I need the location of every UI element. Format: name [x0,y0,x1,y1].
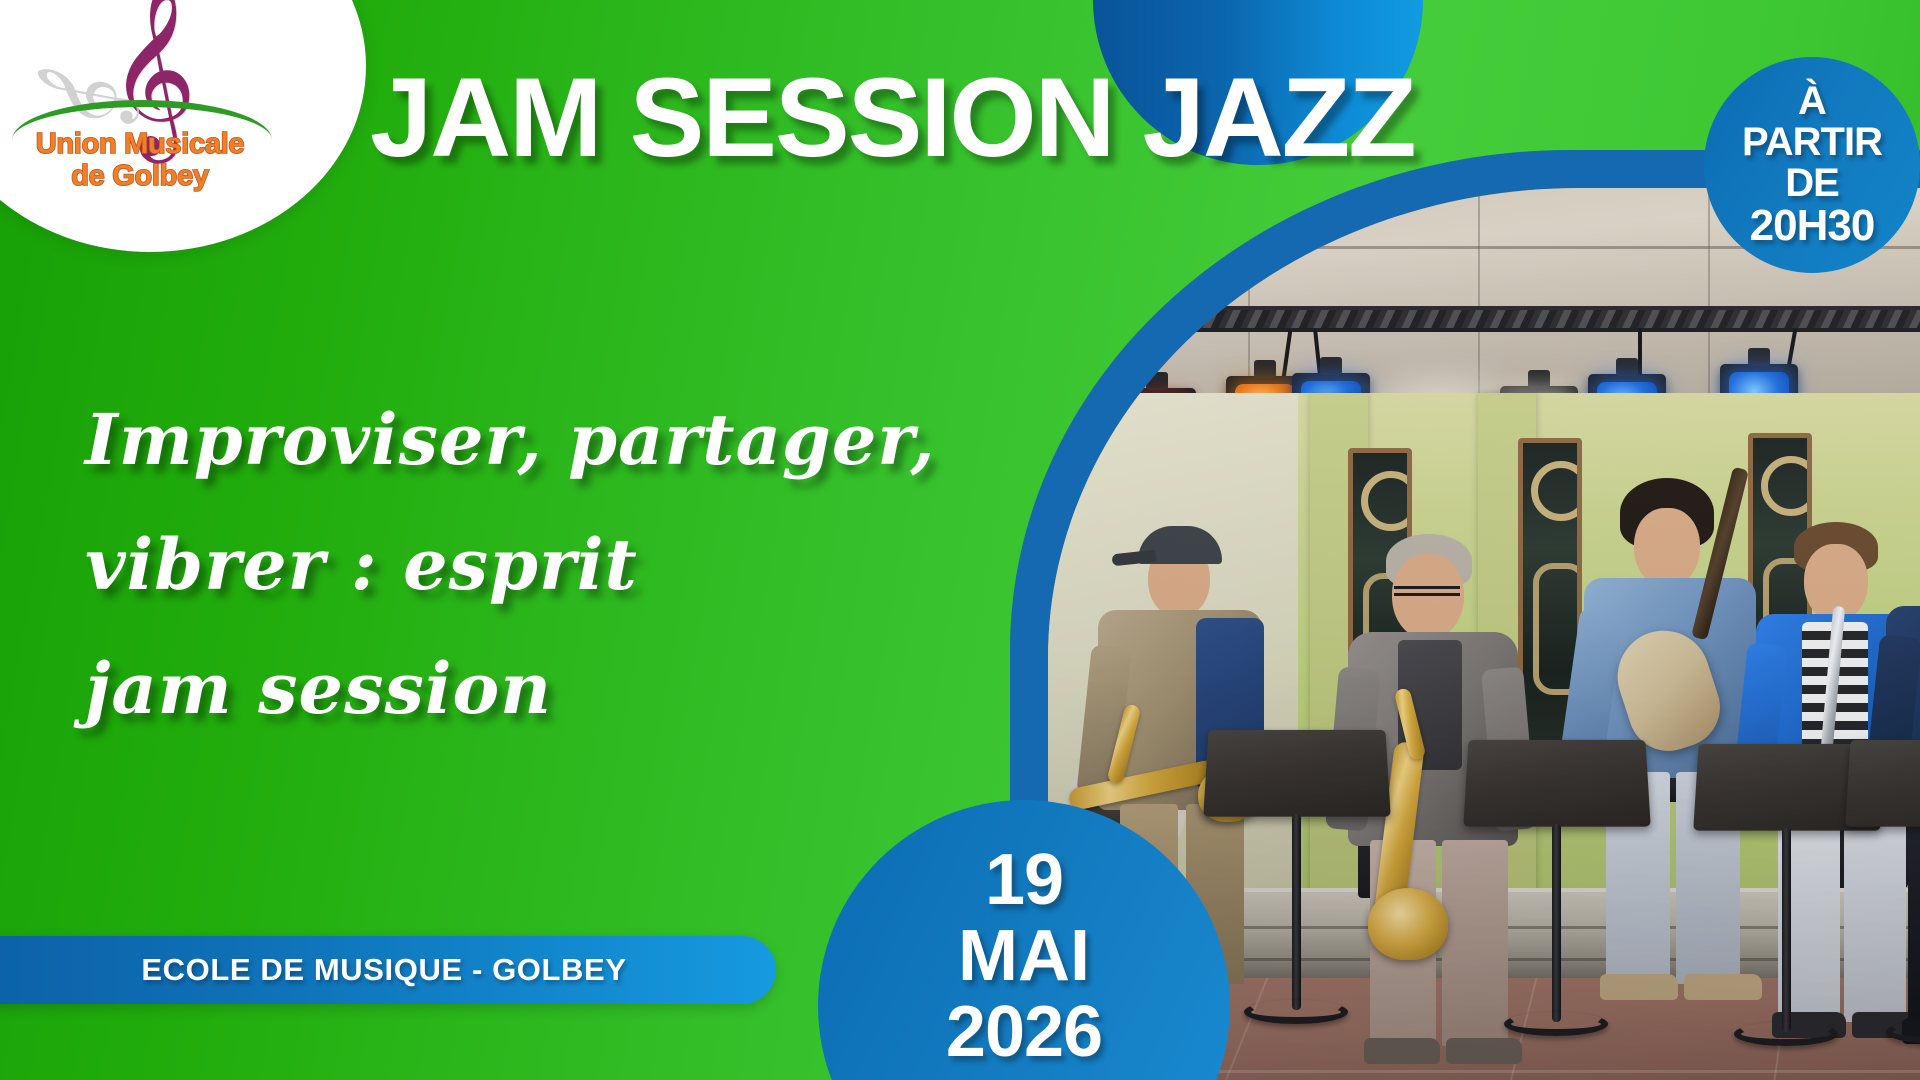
logo-text-line-2: de Golbey [0,160,280,192]
event-poster: 𝄞 𝄞 Union Musicale de Golbey JAM SESSION… [0,0,1920,1080]
lighting-truss [1048,306,1920,332]
poster-tagline: Improviser, partager, vibrer : esprit ja… [85,378,905,752]
time-badge-line-1: À [1798,81,1826,122]
date-day: 19 [985,844,1063,916]
tagline-line-1: Improviser, partager, [85,378,905,503]
tagline-line-3: jam session [85,627,905,752]
tagline-line-2: vibrer : esprit [85,503,905,628]
logo-text: Union Musicale de Golbey [0,128,280,193]
venue-ribbon: ECOLE DE MUSIQUE - GOLBEY [0,936,776,1004]
time-badge-line-2: PARTIR [1742,122,1882,163]
poster-title: JAM SESSION JAZZ [370,62,1415,174]
date-month: MAI [958,920,1090,992]
time-badge-line-3: DE [1785,163,1839,204]
organisation-logo: 𝄞 𝄞 Union Musicale de Golbey [0,0,366,252]
time-badge-time: 20H30 [1750,204,1875,249]
date-year: 2026 [946,996,1102,1068]
logo-text-line-1: Union Musicale [0,128,280,160]
venue-label: ECOLE DE MUSIQUE - GOLBEY [89,952,626,988]
start-time-badge: À PARTIR DE 20H30 [1704,57,1920,273]
baseball-cap-icon [1138,526,1222,564]
